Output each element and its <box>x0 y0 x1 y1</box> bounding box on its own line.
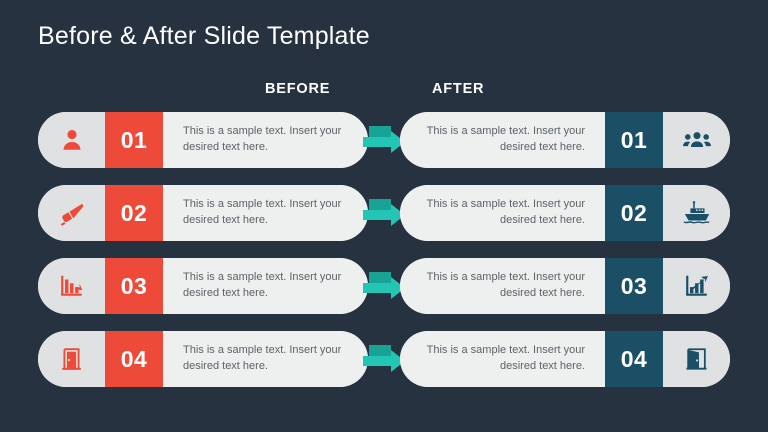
after-pill-2[interactable]: This is a sample text. Insert your desir… <box>400 185 730 241</box>
before-number-1: 01 <box>105 112 163 168</box>
after-text-1: This is a sample text. Insert your desir… <box>414 124 591 156</box>
before-pill-4[interactable]: 04 This is a sample text. Insert your de… <box>38 331 368 387</box>
user-icon <box>38 112 105 168</box>
after-text-2: This is a sample text. Insert your desir… <box>414 197 591 229</box>
after-text-4: This is a sample text. Insert your desir… <box>414 343 591 375</box>
after-text-cell-3: This is a sample text. Insert your desir… <box>400 258 605 314</box>
after-text-cell-1: This is a sample text. Insert your desir… <box>400 112 605 168</box>
bar-chart-up-icon <box>663 258 730 314</box>
before-text-1: This is a sample text. Insert your desir… <box>177 124 354 156</box>
door-closed-icon <box>38 331 105 387</box>
before-number-3: 03 <box>105 258 163 314</box>
before-pill-1[interactable]: 01 This is a sample text. Insert your de… <box>38 112 368 168</box>
after-number-4: 04 <box>605 331 663 387</box>
table-row: 01 This is a sample text. Insert your de… <box>0 112 768 168</box>
door-open-icon <box>663 331 730 387</box>
before-number-2: 02 <box>105 185 163 241</box>
before-number-4: 04 <box>105 331 163 387</box>
megaphone-icon <box>38 185 105 241</box>
table-row: 02 This is a sample text. Insert your de… <box>0 185 768 241</box>
after-pill-3[interactable]: This is a sample text. Insert your desir… <box>400 258 730 314</box>
after-pill-1[interactable]: This is a sample text. Insert your desir… <box>400 112 730 168</box>
before-pill-3[interactable]: 03 This is a sample text. Insert your de… <box>38 258 368 314</box>
after-pill-4[interactable]: This is a sample text. Insert your desir… <box>400 331 730 387</box>
before-pill-2[interactable]: 02 This is a sample text. Insert your de… <box>38 185 368 241</box>
after-text-3: This is a sample text. Insert your desir… <box>414 270 591 302</box>
before-text-cell-2: This is a sample text. Insert your desir… <box>163 185 368 241</box>
after-text-cell-4: This is a sample text. Insert your desir… <box>400 331 605 387</box>
after-number-3: 03 <box>605 258 663 314</box>
table-row: 04 This is a sample text. Insert your de… <box>0 331 768 387</box>
table-row: 03 This is a sample text. Insert your de… <box>0 258 768 314</box>
bar-chart-down-icon <box>38 258 105 314</box>
users-group-icon <box>663 112 730 168</box>
after-number-1: 01 <box>605 112 663 168</box>
before-text-3: This is a sample text. Insert your desir… <box>177 270 354 302</box>
after-text-cell-2: This is a sample text. Insert your desir… <box>400 185 605 241</box>
rows-container: 01 This is a sample text. Insert your de… <box>0 0 768 432</box>
before-text-2: This is a sample text. Insert your desir… <box>177 197 354 229</box>
before-text-cell-1: This is a sample text. Insert your desir… <box>163 112 368 168</box>
slide-canvas: Before & After Slide Template BEFORE AFT… <box>0 0 768 432</box>
after-number-2: 02 <box>605 185 663 241</box>
before-text-4: This is a sample text. Insert your desir… <box>177 343 354 375</box>
ship-icon <box>663 185 730 241</box>
before-text-cell-4: This is a sample text. Insert your desir… <box>163 331 368 387</box>
before-text-cell-3: This is a sample text. Insert your desir… <box>163 258 368 314</box>
